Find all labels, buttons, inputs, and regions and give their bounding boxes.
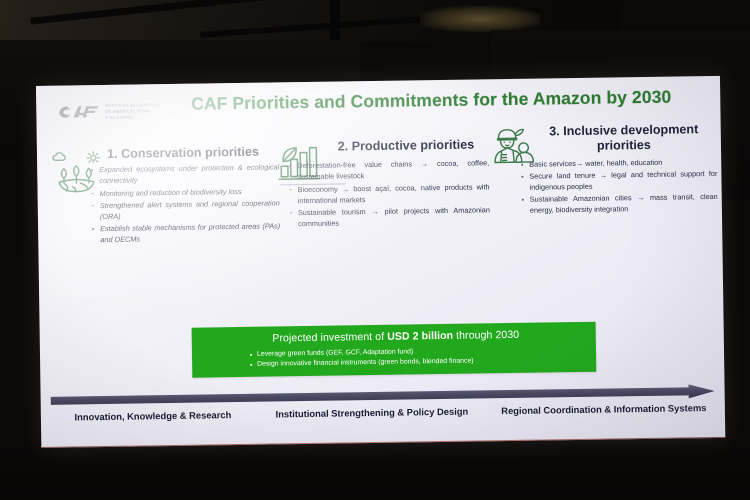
pillar-regional-coordination-information-systems: Regional Coordination & Information Syst…: [493, 402, 715, 418]
pillar-innovation-knowledge-research: Innovation, Knowledge & Research: [57, 409, 249, 425]
bullet-item: Secure land tenure → legal and technical…: [517, 168, 717, 193]
priority-columns: 1. Conservation priorities Expanded ecos…: [37, 138, 724, 326]
logo-line-3: Y EL CARIBE: [105, 114, 160, 121]
investment-banner-bullets: Leverage green funds (GEF, GCF, Adaptati…: [206, 345, 586, 371]
caf-logo-mark: [58, 104, 100, 121]
investment-banner: Projected investment of USD 2 billion th…: [192, 322, 597, 378]
column-3-heading: 3. Inclusive development priorities: [533, 122, 715, 155]
banner-title-highlight: USD 2 billion: [387, 330, 453, 343]
bullet-item: Expanded ecosystems under protection & e…: [87, 162, 279, 187]
column-1-heading: 1. Conservation priorities: [103, 145, 263, 163]
column-2-heading: 2. Productive priorities: [327, 137, 485, 155]
banner-title-suffix: through 2030: [453, 329, 519, 342]
bullet-item: Strengthened alert systems and regional …: [88, 197, 280, 222]
bullet-item: Sustainable tourism → pilot projects wit…: [286, 204, 490, 229]
floor-shadow: [0, 440, 750, 500]
pillar-institutional-strengthening-policy-design: Institutional Strengthening & Policy Des…: [263, 405, 481, 421]
bullet-item: Deforestation-free value chains → cocoa,…: [285, 158, 489, 183]
column-productive: 2. Productive priorities Deforestation-f…: [277, 137, 490, 230]
investment-banner-title: Projected investment of USD 2 billion th…: [206, 328, 586, 346]
ceiling-lamp-spot: [420, 6, 540, 32]
column-3-bullets: Basic services→ water, health, education…: [517, 156, 718, 216]
bullet-item: Sustainable Amazonian cities → mass tran…: [518, 191, 718, 216]
caf-logo: BANCO DE DESARROLLO DE AMÉRICA LATINA Y …: [58, 102, 160, 121]
bullet-item: Bioeconomy → boost açaí, cocoa, native p…: [285, 181, 489, 206]
projected-slide: BANCO DE DESARROLLO DE AMÉRICA LATINA Y …: [36, 76, 725, 448]
banner-title-prefix: Projected investment of: [272, 331, 387, 345]
column-inclusive-development: 3. Inclusive development priorities Basi…: [489, 122, 718, 217]
column-1-bullets: Expanded ecosystems under protection & e…: [87, 162, 280, 245]
column-conservation: 1. Conservation priorities Expanded ecos…: [51, 144, 280, 246]
column-2-bullets: Deforestation-free value chains → cocoa,…: [285, 158, 490, 229]
ceiling-beam: [330, 0, 340, 40]
caf-logo-text: BANCO DE DESARROLLO DE AMÉRICA LATINA Y …: [105, 102, 160, 121]
slide-title: CAF Priorities and Commitments for the A…: [186, 87, 676, 115]
bullet-item: Establish stable mechanisms for protecte…: [88, 220, 280, 245]
